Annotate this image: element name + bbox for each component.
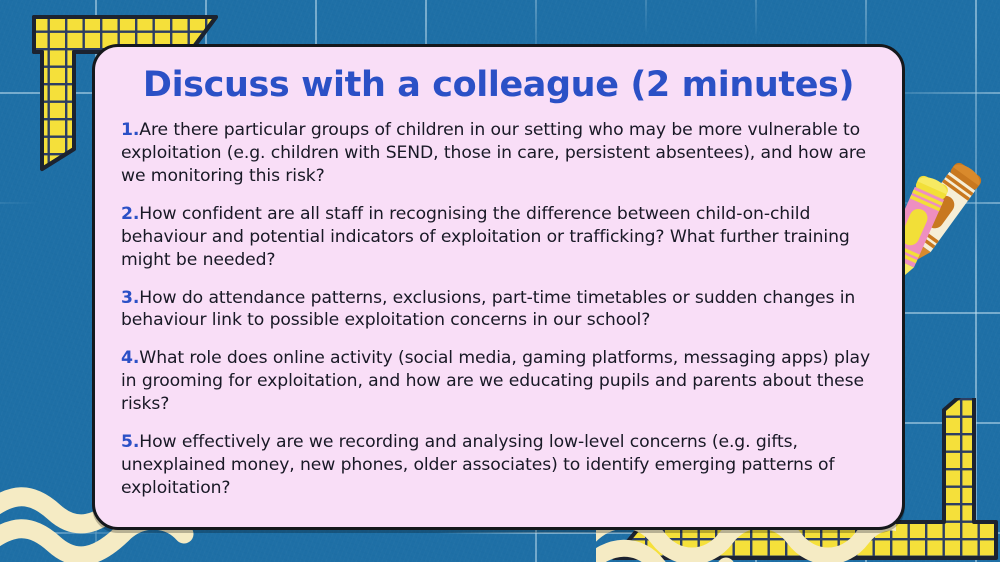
list-item-number: 5. xyxy=(121,432,139,452)
list-item: 2.How confident are all staff in recogni… xyxy=(121,203,876,272)
list-item: 1.Are there particular groups of childre… xyxy=(121,119,876,188)
list-item: 4.What role does online activity (social… xyxy=(121,347,876,416)
list-item-number: 4. xyxy=(121,348,139,368)
slide-canvas: Discuss with a colleague (2 minutes) 1.A… xyxy=(0,0,1000,562)
list-item-text: How confident are all staff in recognisi… xyxy=(121,204,850,270)
content-card: Discuss with a colleague (2 minutes) 1.A… xyxy=(92,44,905,530)
list-item: 3.How do attendance patterns, exclusions… xyxy=(121,287,876,333)
page-title: Discuss with a colleague (2 minutes) xyxy=(121,61,876,108)
discussion-questions-list: 1.Are there particular groups of childre… xyxy=(121,119,876,499)
list-item-text: What role does online activity (social m… xyxy=(121,348,870,414)
list-item-number: 2. xyxy=(121,204,139,224)
list-item-number: 1. xyxy=(121,120,139,140)
list-item-number: 3. xyxy=(121,288,139,308)
list-item: 5.How effectively are we recording and a… xyxy=(121,431,876,500)
list-item-text: Are there particular groups of children … xyxy=(121,120,866,186)
list-item-text: How do attendance patterns, exclusions, … xyxy=(121,288,855,331)
list-item-text: How effectively are we recording and ana… xyxy=(121,432,834,498)
